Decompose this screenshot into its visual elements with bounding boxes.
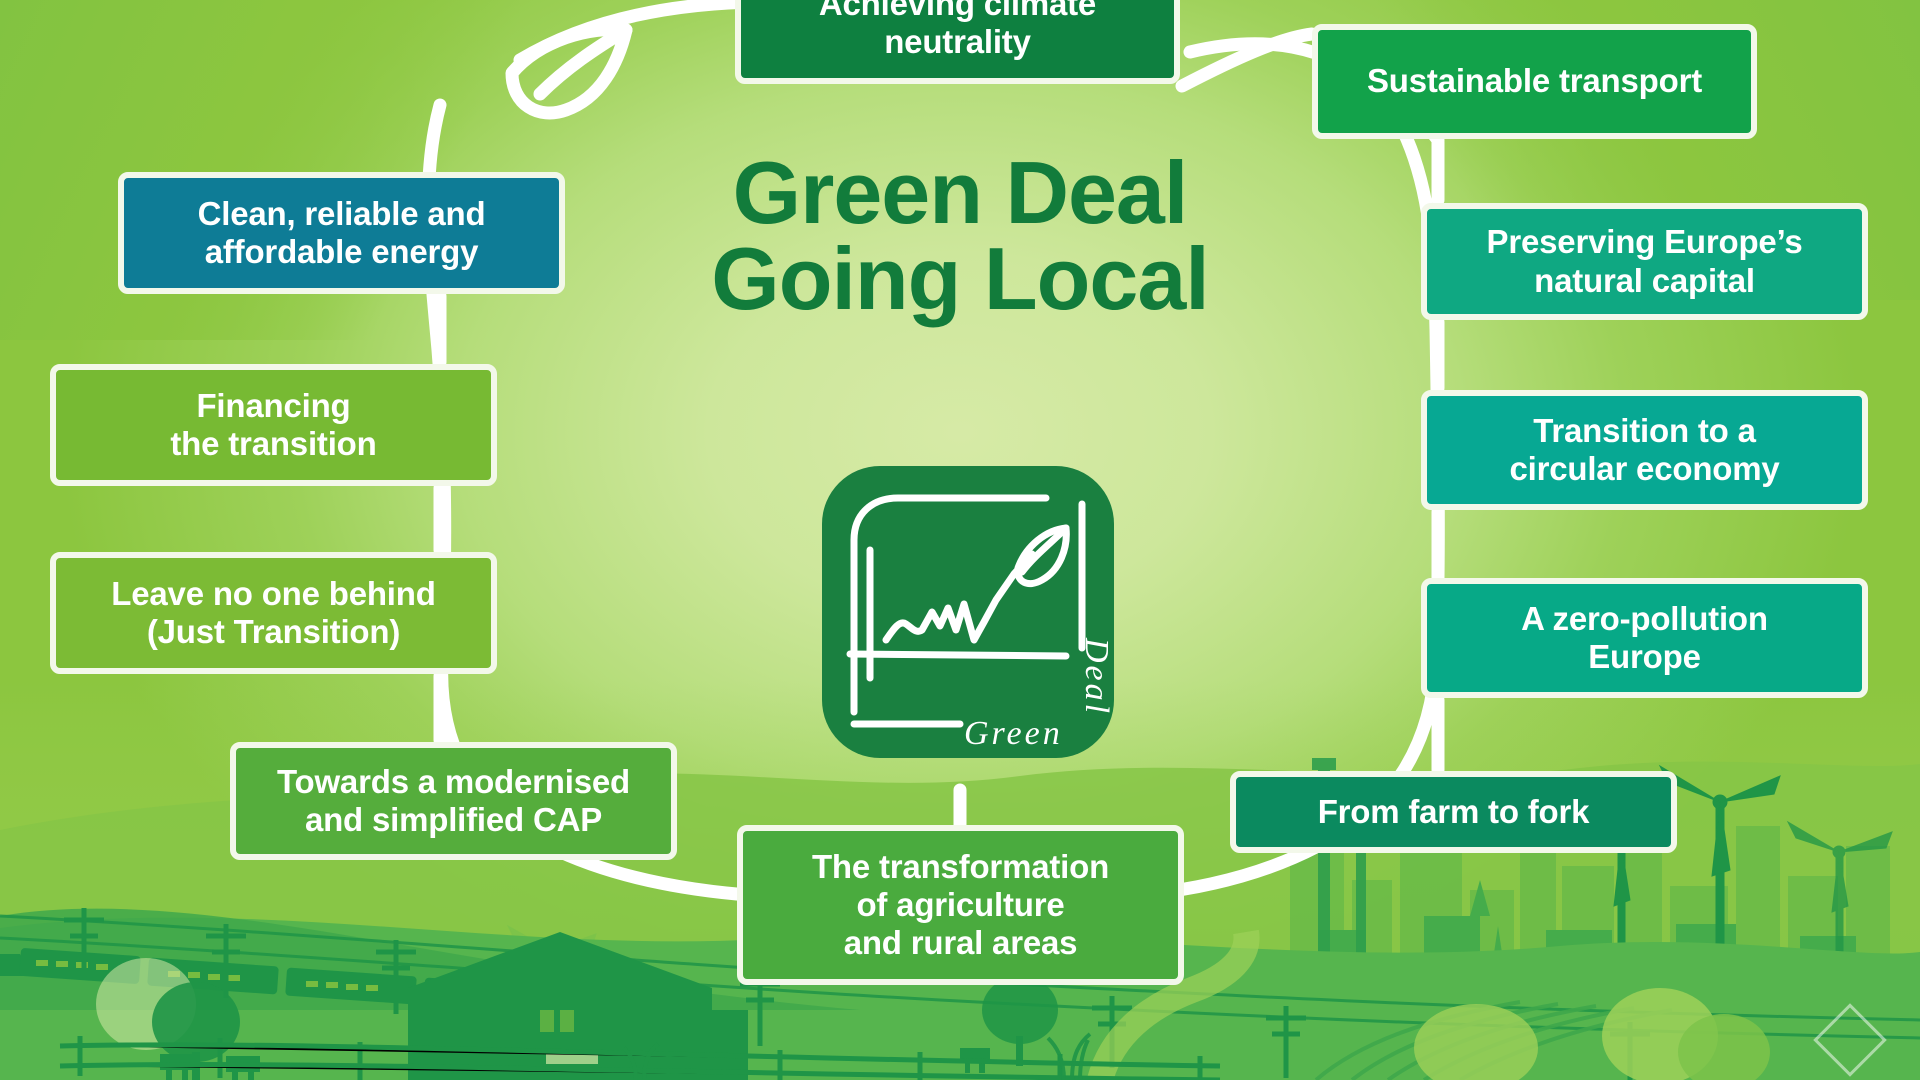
logo-word-green: Green (964, 715, 1063, 752)
box-modernised-cap[interactable]: Towards a modernisedand simplified CAP (230, 742, 677, 860)
box-sustainable-transport[interactable]: Sustainable transport (1312, 24, 1757, 139)
box-climate-neutrality[interactable]: Achieving climateneutrality (735, 0, 1180, 84)
infographic-canvas: Green Deal Going Local Green Deal Achie (0, 0, 1920, 1080)
box-label: Transition to acircular economy (1509, 412, 1779, 489)
box-label: The transformationof agricultureand rura… (812, 848, 1109, 963)
green-deal-logo: Green Deal (818, 462, 1118, 762)
logo-x-axis (850, 654, 1066, 656)
logo-word-deal: Deal (1078, 637, 1115, 716)
box-farm-to-fork[interactable]: From farm to fork (1230, 771, 1677, 853)
box-label: Clean, reliable andaffordable energy (198, 195, 486, 272)
page-title: Green Deal Going Local (610, 150, 1310, 322)
box-label: Financingthe transition (170, 387, 376, 464)
box-label: Towards a modernisedand simplified CAP (277, 763, 630, 840)
box-zero-pollution[interactable]: A zero-pollutionEurope (1421, 578, 1868, 698)
title-line-2: Going Local (610, 236, 1310, 322)
box-leave-no-one-behind[interactable]: Leave no one behind(Just Transition) (50, 552, 497, 674)
box-preserving-natural-capital[interactable]: Preserving Europe’snatural capital (1421, 203, 1868, 320)
box-financing-transition[interactable]: Financingthe transition (50, 364, 497, 486)
box-label: From farm to fork (1318, 793, 1590, 831)
box-label: Sustainable transport (1367, 62, 1702, 100)
box-label: Achieving climateneutrality (819, 0, 1096, 61)
title-line-1: Green Deal (733, 143, 1188, 242)
box-clean-energy[interactable]: Clean, reliable andaffordable energy (118, 172, 565, 294)
box-circular-economy[interactable]: Transition to acircular economy (1421, 390, 1868, 510)
box-agriculture-transformation[interactable]: The transformationof agricultureand rura… (737, 825, 1184, 985)
box-label: Leave no one behind(Just Transition) (111, 575, 435, 652)
box-label: Preserving Europe’snatural capital (1487, 223, 1803, 300)
box-label: A zero-pollutionEurope (1521, 600, 1768, 677)
